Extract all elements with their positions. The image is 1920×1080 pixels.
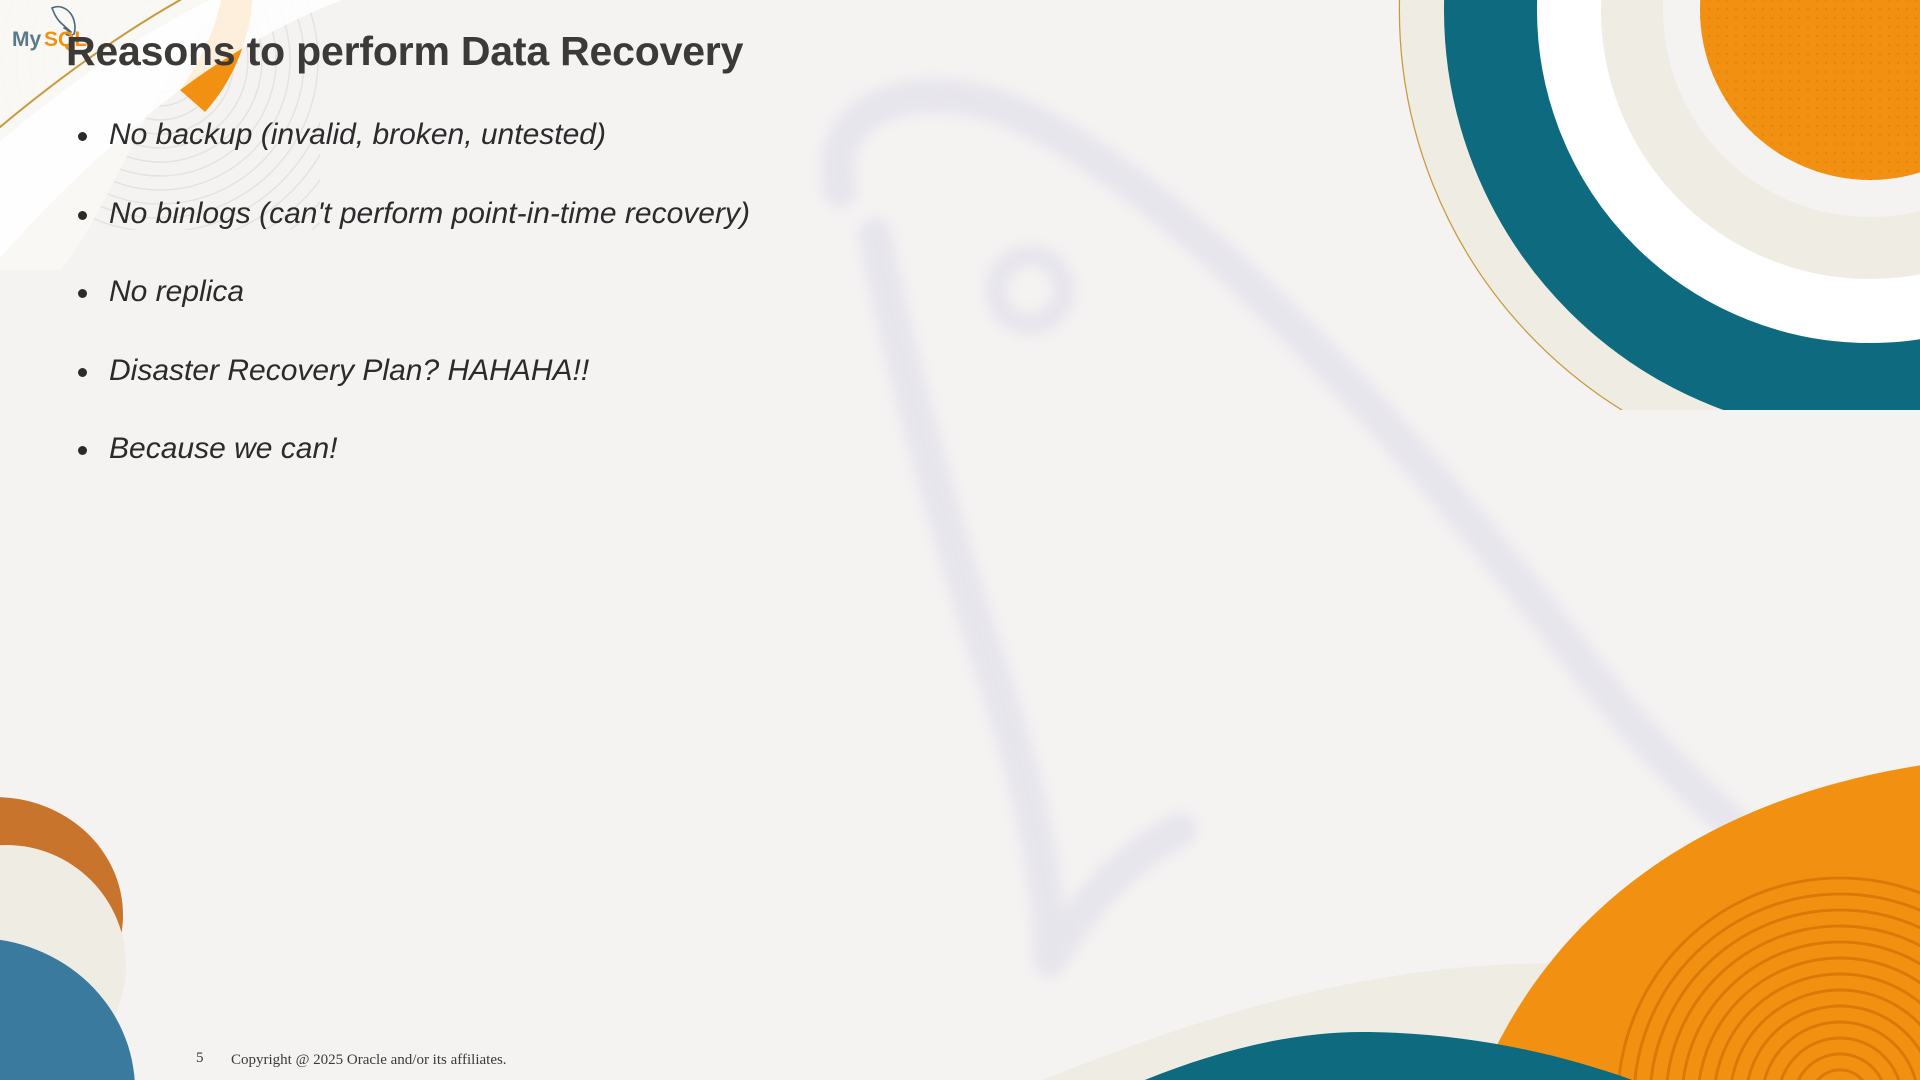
bottom-right-decoration — [900, 680, 1920, 1080]
list-item: No binlogs (can't perform point-in-time … — [78, 197, 750, 231]
bullet-dot-icon — [78, 211, 87, 220]
dolphin-watermark — [780, 60, 1840, 1000]
bullet-text: Because we can! — [109, 432, 337, 466]
top-right-decoration — [1230, 0, 1920, 410]
bullet-list: No backup (invalid, broken, untested) No… — [78, 118, 750, 511]
copyright-notice: Copyright @ 2025 Oracle and/or its affil… — [231, 1052, 507, 1069]
bullet-text: No binlogs (can't perform point-in-time … — [109, 197, 750, 231]
list-item: Disaster Recovery Plan? HAHAHA!! — [78, 354, 750, 388]
bullet-dot-icon — [78, 289, 87, 298]
bullet-dot-icon — [78, 368, 87, 377]
bullet-dot-icon — [78, 132, 87, 141]
list-item: No replica — [78, 275, 750, 309]
bullet-dot-icon — [78, 446, 87, 455]
slide-number: 5 — [196, 1050, 204, 1067]
slide-footer: 5 Copyright @ 2025 Oracle and/or its aff… — [0, 1036, 1920, 1080]
bullet-text: No backup (invalid, broken, untested) — [109, 118, 606, 152]
list-item: No backup (invalid, broken, untested) — [78, 118, 750, 152]
mysql-text-my: My — [12, 28, 41, 51]
presentation-slide: My SQL Reasons to perform Data Recovery … — [0, 0, 1920, 1080]
bullet-text: No replica — [109, 275, 244, 309]
slide-title: Reasons to perform Data Recovery — [66, 28, 743, 75]
list-item: Because we can! — [78, 432, 750, 466]
bullet-text: Disaster Recovery Plan? HAHAHA!! — [109, 354, 589, 388]
